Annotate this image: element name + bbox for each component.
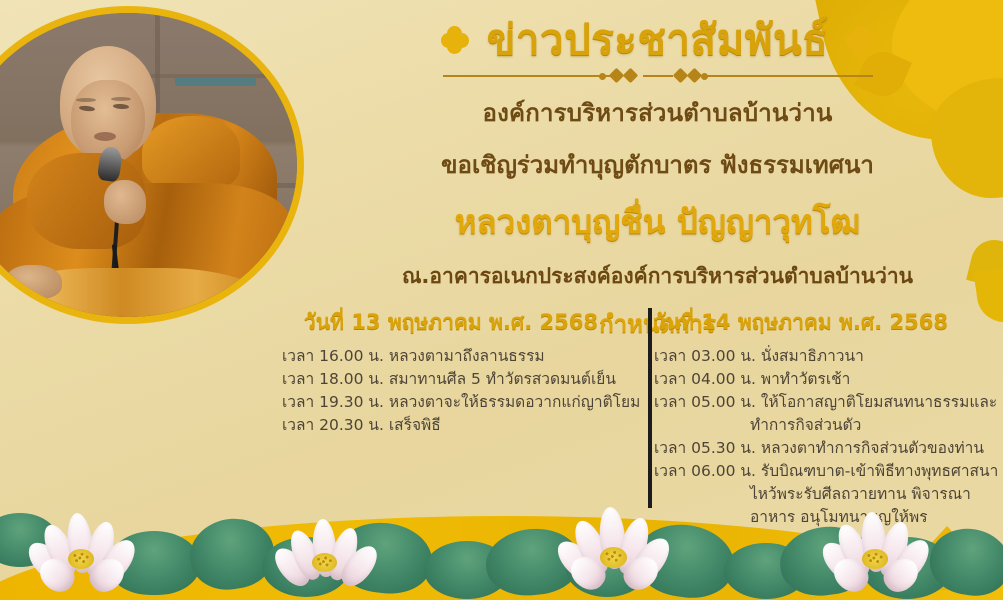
portrait-image xyxy=(0,13,297,317)
list-item: เวลา 05.00 น. ให้โอกาสญาติโยมสนทนาธรรมแล… xyxy=(654,391,982,437)
photo-hand-lower xyxy=(6,265,62,299)
photo-shoulder xyxy=(142,116,240,190)
lotus-decoration-band xyxy=(0,485,1003,600)
list-item-text: เวลา 05.00 น. ให้โอกาสญาติโยมสนทนาธรรมแล… xyxy=(654,393,997,411)
list-item: เวลา 19.30 น. หลวงตาจะให้ธรรมดอวากแก่ญาต… xyxy=(282,391,620,414)
list-item-text: เวลา 05.30 น. หลวงตาทำการกิจส่วนตัวของท่… xyxy=(654,439,984,457)
list-item-text: เวลา 04.00 น. พาทำวัตรเช้า xyxy=(654,370,850,388)
day1-heading: วันที่ 13 พฤษภาคม พ.ศ. 2568 xyxy=(282,306,620,339)
list-item: เวลา 04.00 น. พาทำวัตรเช้า xyxy=(654,368,982,391)
poster-canvas: ข่าวประชาสัมพันธ์ องค์การบริหารส่วนตำบลบ… xyxy=(0,0,1003,600)
list-item: เวลา 03.00 น. นั่งสมาธิภาวนา xyxy=(654,345,982,368)
list-item-text: เวลา 03.00 น. นั่งสมาธิภาวนา xyxy=(654,347,864,365)
monk-name: หลวงตาบุญชื่น ปัญญาวุทโฒ xyxy=(330,195,985,248)
page-title: ข่าวประชาสัมพันธ์ xyxy=(487,18,829,62)
organization-name: องค์การบริหารส่วนตำบลบ้านว่าน xyxy=(330,93,985,132)
lotus-flower-icon xyxy=(30,509,134,595)
venue-text: ณ.อาคารอเนกประสงค์องค์การบริหารส่วนตำบลบ… xyxy=(330,260,985,293)
photo-eyebrow-right xyxy=(111,97,131,101)
lotus-flower-icon xyxy=(276,515,376,597)
photo-eyebrow-left xyxy=(76,98,96,102)
list-item: เวลา 20.30 น. เสร็จพิธี xyxy=(282,414,620,437)
title-row: ข่าวประชาสัมพันธ์ xyxy=(330,18,985,62)
day2-heading: วันที่ 14 พฤษภาคม พ.ศ. 2568 xyxy=(654,306,982,339)
monk-portrait-photo xyxy=(0,6,304,324)
day1-item-list: เวลา 16.00 น. หลวงตามาถึงลานธรรม เวลา 18… xyxy=(282,345,620,437)
photo-teal-strip xyxy=(175,77,256,86)
photo-hand xyxy=(104,180,146,224)
photo-mouth xyxy=(94,132,116,141)
ornamental-divider xyxy=(443,69,873,83)
list-item-text: เวลา 06.00 น. รับบิณฑบาต-เข้าพิธีทางพุทธ… xyxy=(654,462,998,480)
list-item: เวลา 16.00 น. หลวงตามาถึงลานธรรม xyxy=(282,345,620,368)
list-item: เวลา 18.00 น. สมาทานศีล 5 ทำวัตรสวดมนต์เ… xyxy=(282,368,620,391)
lotus-flower-icon xyxy=(824,509,928,595)
quatrefoil-right-icon xyxy=(846,26,874,54)
lotus-flower-icon xyxy=(560,505,668,595)
list-item: เวลา 05.30 น. หลวงตาทำการกิจส่วนตัวของท่… xyxy=(654,437,982,460)
quatrefoil-left-icon xyxy=(441,26,469,54)
invitation-text: ขอเชิญร่วมทำบุญตักบาตร ฟังธรรมเทศนา xyxy=(330,145,985,184)
list-item-continuation: ทำการกิจส่วนตัว xyxy=(654,414,982,437)
header-block: ข่าวประชาสัมพันธ์ องค์การบริหารส่วนตำบลบ… xyxy=(330,18,985,343)
